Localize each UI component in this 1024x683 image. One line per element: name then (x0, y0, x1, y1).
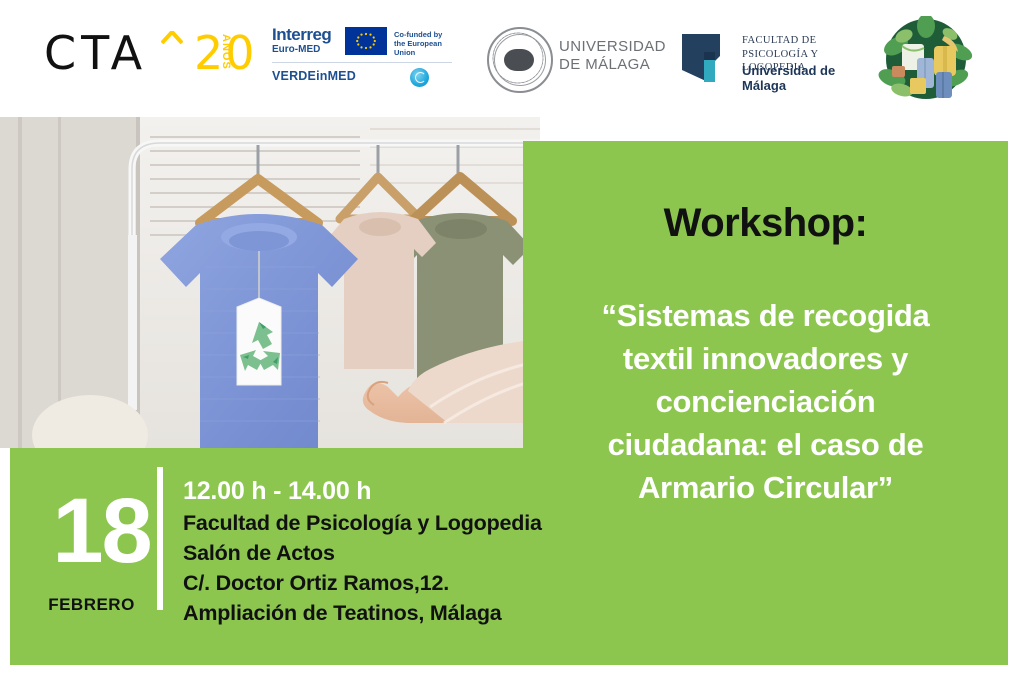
uma-wordmark: UNIVERSIDAD DE MÁLAGA (559, 38, 666, 74)
workshop-title-line: textil innovadores y (545, 337, 986, 380)
event-details: 12.00 h - 14.00 h Facultad de Psicología… (183, 475, 583, 628)
event-month: FEBRERO (34, 595, 149, 615)
facultad-line3: Universidad de Málaga (742, 63, 865, 93)
event-venue-line: Ampliación de Teatinos, Málaga (183, 598, 583, 628)
workshop-kicker: Workshop: (523, 201, 1008, 246)
event-time: 12.00 h - 14.00 h (183, 475, 583, 508)
event-day: 18 (44, 485, 159, 577)
uma-line1: UNIVERSIDAD (559, 38, 666, 56)
facultad-mark-icon (680, 30, 728, 84)
facultad-line1: FACULTAD DE (742, 34, 816, 47)
workshop-block: Workshop: “Sistemas de recogida textil i… (523, 141, 1008, 665)
interreg-logo: Interreg Euro-MED Co-funded by the Europ… (272, 24, 452, 94)
cta-logo: CTA 20 AÑOS (44, 28, 244, 86)
workshop-title: “Sistemas de recogida textil innovadores… (545, 294, 986, 509)
interreg-divider (272, 62, 452, 63)
cta-chevron-icon (161, 31, 183, 44)
interreg-program-name: Interreg (272, 26, 331, 43)
event-divider (157, 467, 163, 610)
event-venue-line: Salón de Actos (183, 538, 583, 568)
verdeinmed-illustration-badge (872, 16, 980, 102)
uma-line2: DE MÁLAGA (559, 56, 666, 74)
workshop-title-line: Armario Circular” (545, 466, 986, 509)
workshop-title-line: “Sistemas de recogida (545, 294, 986, 337)
cta-wordmark: CTA (44, 30, 147, 76)
eu-funding-line1: Co-funded by (394, 30, 452, 39)
clothing-rack-recycling-photo (0, 117, 540, 448)
event-poster: CTA 20 AÑOS Interreg Euro-MED (0, 0, 1024, 683)
eu-funding-line2: the European Union (394, 39, 452, 57)
eu-funding-text: Co-funded by the European Union (394, 30, 452, 57)
workshop-title-line: ciudadana: el caso de (545, 423, 986, 466)
facultad-logo: FACULTAD DE PSICOLOGÍA Y LOGOPEDIA Unive… (680, 26, 865, 92)
logo-bar: CTA 20 AÑOS Interreg Euro-MED (0, 0, 1024, 117)
event-venue-line: Facultad de Psicología y Logopedia (183, 508, 583, 538)
universidad-de-malaga-logo: UNIVERSIDAD DE MÁLAGA (487, 26, 662, 92)
event-venue-line: C/. Doctor Ortiz Ramos,12. (183, 568, 583, 598)
uma-seal-icon (487, 27, 553, 93)
verdeinmed-project-name: VERDEinMED (272, 69, 356, 83)
interreg-program-area: Euro-MED (272, 44, 320, 55)
verdeinmed-dot-icon (410, 68, 429, 87)
cta-anniversary-label: AÑOS (220, 34, 232, 70)
workshop-title-line: concienciación (545, 380, 986, 423)
european-union-flag-icon (345, 27, 387, 55)
